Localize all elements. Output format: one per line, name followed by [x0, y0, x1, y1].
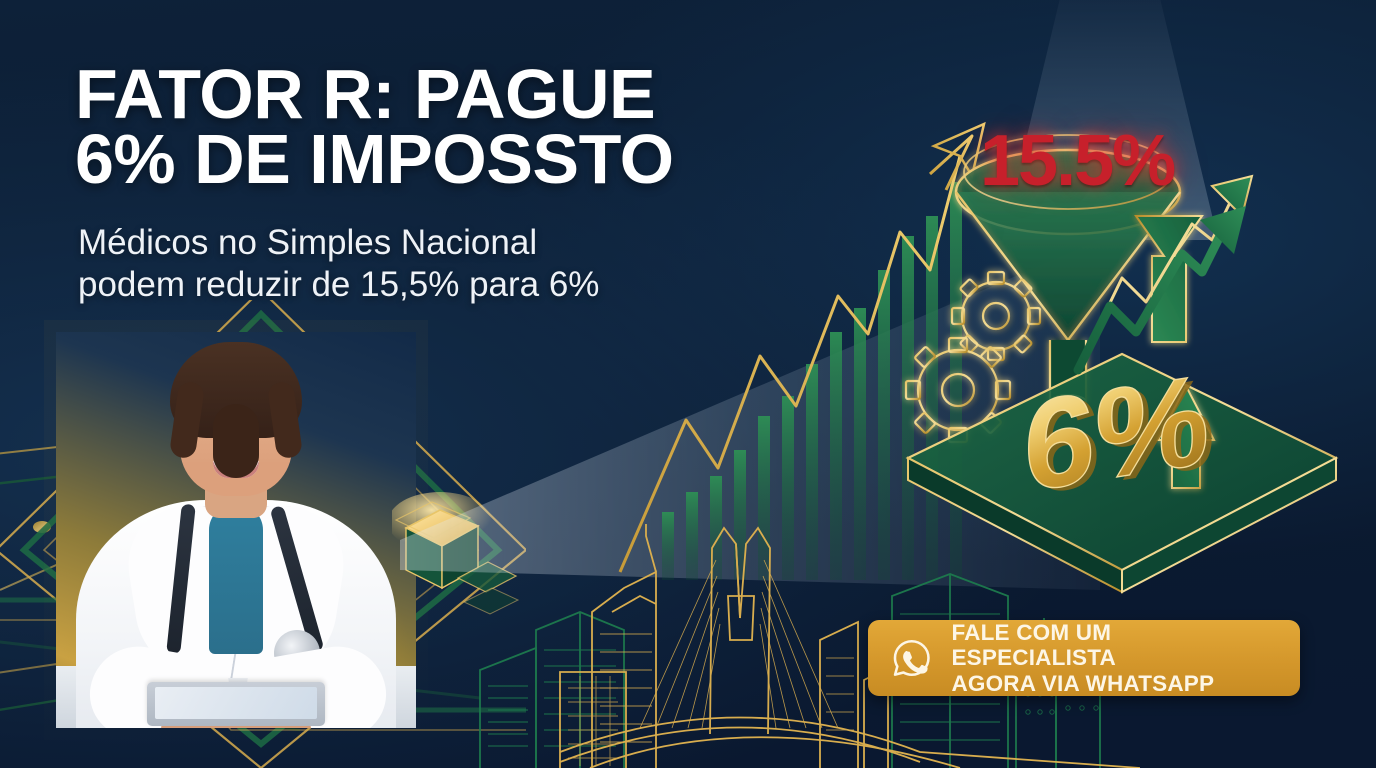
whatsapp-cta-label: FALE COM UM ESPECIALISTA AGORA VIA WHATS…: [951, 620, 1278, 697]
cta-line-1: FALE COM UM ESPECIALISTA: [951, 620, 1278, 671]
promo-banner: 6% 6% 6% 15.5%: [0, 0, 1376, 768]
subtitle-line-1: Médicos no Simples Nacional: [78, 222, 758, 264]
subtitle-line-2: podem reduzir de 15,5% para 6%: [78, 264, 758, 306]
cta-line-2: AGORA VIA WHATSAPP: [951, 671, 1278, 697]
doctor-photo-image: [56, 332, 416, 728]
tablet-device: [147, 682, 325, 726]
doctor-photo: [56, 332, 416, 728]
headline-line-2: 6% DE IMPOSSTO: [75, 127, 775, 192]
old-rate-label: 15.5%: [980, 120, 1220, 202]
whatsapp-cta-button[interactable]: FALE COM UM ESPECIALISTA AGORA VIA WHATS…: [868, 620, 1300, 696]
headline-line-1: FATOR R: PAGUE: [75, 62, 775, 127]
whatsapp-icon: [890, 636, 933, 680]
hair: [170, 342, 302, 438]
page-title: FATOR R: PAGUE 6% DE IMPOSSTO: [75, 62, 775, 192]
subtitle: Médicos no Simples Nacional podem reduzi…: [78, 222, 758, 306]
